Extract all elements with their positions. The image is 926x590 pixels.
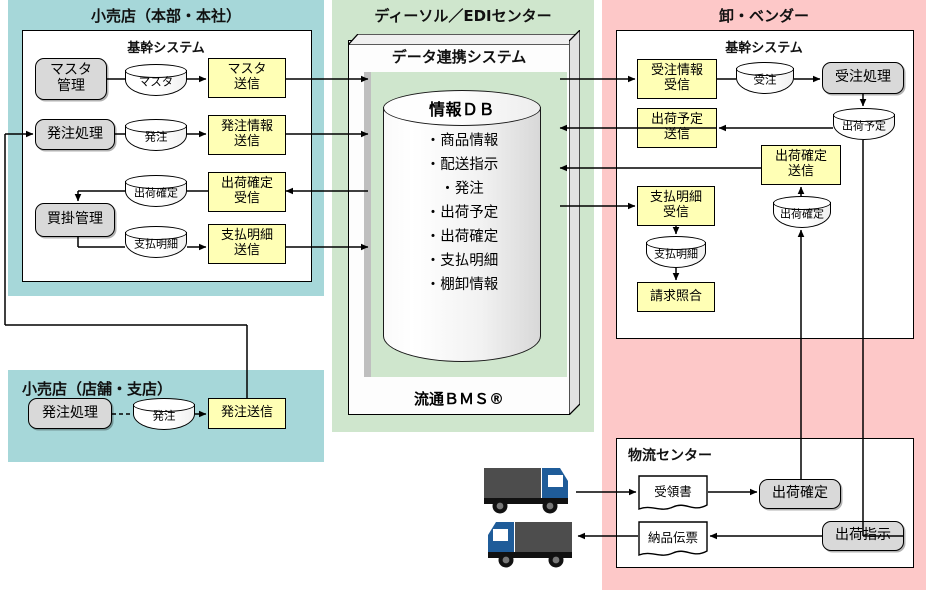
- node-logistics-ship-confirm[interactable]: 出荷確定: [759, 479, 841, 509]
- list-item: ・棚卸情報: [383, 278, 541, 293]
- panel-retail-store-title: 小売店（店舗・支店）: [22, 378, 172, 399]
- node-order-process-store[interactable]: 発注処理: [28, 398, 112, 429]
- db-received: 受注: [736, 62, 794, 94]
- db-master: マスタ: [125, 64, 187, 96]
- panel-retail-hq-title: 小売店（本部・本社）: [8, 5, 324, 26]
- box3d-side-face: [569, 30, 580, 415]
- list-item: ・発注: [383, 182, 541, 197]
- list-item: ・支払明細: [383, 254, 541, 269]
- node-ship-order[interactable]: 出荷指示: [822, 521, 904, 551]
- container-data-system-title: データ連携システム: [348, 46, 570, 67]
- list-item: ・出荷確定: [383, 230, 541, 245]
- node-ship-plan-send[interactable]: 出荷予定 送信: [637, 108, 717, 148]
- info-db-item-list: ・商品情報 ・配送指示 ・発注 ・出荷予定 ・出荷確定 ・支払明細 ・棚卸情報: [383, 134, 541, 302]
- truck-left-icon: [482, 518, 574, 568]
- box3d-top-face: [348, 30, 580, 41]
- diagram-canvas: 小売店（本部・本社） 小売店（店舗・支店） ディーソル／EDIセンター 卸・ベン…: [0, 0, 926, 590]
- node-order-info-recv[interactable]: 受注情報 受信: [637, 59, 717, 99]
- node-ship-confirm-send[interactable]: 出荷確定 送信: [761, 145, 841, 185]
- node-invoice-match[interactable]: 請求照合: [637, 282, 715, 312]
- node-payable-mgmt[interactable]: 買掛管理: [35, 203, 115, 237]
- truck-right-icon: [482, 464, 574, 514]
- db-received-label: 受注: [736, 71, 794, 87]
- db-master-label: マスタ: [125, 73, 187, 89]
- db-order-store-label: 発注: [133, 407, 195, 423]
- container-logistics-title: 物流センター: [628, 445, 712, 465]
- doc-receipt[interactable]: 受領書: [638, 475, 708, 513]
- container-hq-core-title: 基幹システム: [22, 37, 310, 56]
- db-pay-detail-vendor-label: 支払明細: [646, 245, 706, 261]
- node-order-send-store[interactable]: 発注送信: [208, 398, 286, 429]
- doc-receipt-label: 受領書: [638, 481, 708, 500]
- db-ship-plan-label: 出荷予定: [833, 117, 895, 133]
- db-order-store: 発注: [133, 398, 195, 430]
- db-ship-confirm-hq-label: 出荷確定: [125, 184, 187, 200]
- panel-vendor-title: 卸・ベンダー: [602, 5, 926, 26]
- db-pay-detail-hq: 支払明細: [125, 226, 187, 258]
- db-ship-confirm-hq: 出荷確定: [125, 175, 187, 207]
- container-vendor-core-title: 基幹システム: [616, 37, 912, 56]
- list-item: ・商品情報: [383, 134, 541, 149]
- info-db-cylinder: 情報ＤＢ ・商品情報 ・配送指示 ・発注 ・出荷予定 ・出荷確定 ・支払明細 ・…: [383, 90, 541, 362]
- doc-delivery-slip-label: 納品伝票: [638, 527, 708, 546]
- list-item: ・出荷予定: [383, 206, 541, 221]
- node-ship-confirm-recv[interactable]: 出荷確定 受信: [208, 172, 286, 212]
- node-order-process-hq[interactable]: 発注処理: [35, 119, 115, 150]
- node-pay-detail-send[interactable]: 支払明細 送信: [208, 224, 286, 264]
- list-item: ・配送指示: [383, 158, 541, 173]
- db-ship-plan: 出荷予定: [833, 108, 895, 140]
- node-pay-detail-recv[interactable]: 支払明細 受信: [637, 186, 715, 226]
- db-ship-confirm-vendor: 出荷確定: [773, 196, 831, 228]
- db-ship-confirm-vendor-label: 出荷確定: [773, 205, 831, 221]
- info-db-caption: 情報ＤＢ: [383, 96, 541, 120]
- doc-delivery-slip[interactable]: 納品伝票: [638, 521, 708, 559]
- db-order-hq-label: 発注: [125, 128, 187, 144]
- db-pay-detail-vendor: 支払明細: [646, 236, 706, 268]
- node-master-send[interactable]: マスタ 送信: [208, 58, 286, 98]
- bms-footer-label: 流通ＢＭＳ®: [348, 388, 570, 409]
- node-order-info-send[interactable]: 発注情報 送信: [208, 115, 286, 155]
- panel-edi-center-title: ディーソル／EDIセンター: [332, 5, 594, 26]
- node-order-handling[interactable]: 受注処理: [822, 62, 904, 94]
- db-pay-detail-hq-label: 支払明細: [125, 235, 187, 251]
- node-master-mgmt[interactable]: マスタ 管理: [35, 58, 107, 100]
- db-order-hq: 発注: [125, 119, 187, 151]
